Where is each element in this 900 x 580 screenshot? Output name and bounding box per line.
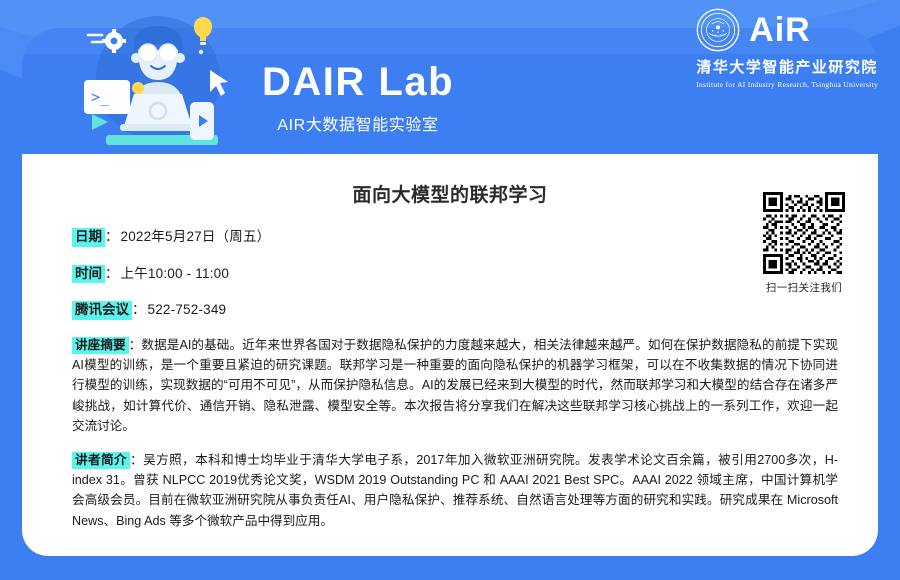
- lab-subtitle: AIR大数据智能实验室: [262, 111, 454, 135]
- time-separator: ：: [105, 262, 119, 282]
- institute-english-name: Institute for AI Industry Research, Tsin…: [696, 80, 878, 89]
- time-label: 时间: [72, 265, 105, 284]
- body-card: 面向大模型的联邦学习: [22, 154, 878, 556]
- abstract-paragraph: 讲座摘要：数据是AI的基础。近年来世界各国对于数据隐私保护的力度越来越大，相关法…: [48, 335, 852, 437]
- qr-code-icon: [763, 192, 845, 274]
- meta-row-meeting: 腾讯会议 ： 522-752-349: [72, 298, 852, 320]
- bio-label: 讲者简介: [72, 452, 130, 469]
- bio-paragraph: 讲者简介：吴方照，本科和博士均毕业于清华大学电子系，2017年加入微软亚洲研究院…: [48, 450, 852, 532]
- qr-block: 扫一扫关注我们: [756, 192, 852, 295]
- page-title: 面向大模型的联邦学习: [48, 180, 852, 207]
- date-separator: ：: [105, 225, 119, 245]
- meeting-separator: ：: [132, 298, 146, 318]
- date-value: 2022年5月27日（周五）: [121, 225, 271, 245]
- abstract-text: 数据是AI的基础。近年来世界各国对于数据隐私保护的力度越来越大，相关法律越来越严…: [72, 338, 838, 434]
- institute-chinese-name: 清华大学智能产业研究院: [696, 56, 878, 77]
- seminar-poster: AiR 清华大学智能产业研究院 Institute for AI Industr…: [0, 0, 900, 580]
- air-wordmark: AiR: [749, 13, 811, 47]
- lab-name: DAIR Lab: [262, 62, 454, 102]
- abstract-label: 讲座摘要: [72, 337, 129, 354]
- bio-separator: ：: [130, 453, 143, 467]
- air-logo-block: AiR 清华大学智能产业研究院 Institute for AI Industr…: [696, 8, 878, 89]
- tsinghua-seal-icon: [696, 8, 740, 52]
- date-label: 日期: [72, 228, 105, 247]
- meta-row-date: 日期 ： 2022年5月27日（周五）: [72, 225, 852, 247]
- meeting-label: 腾讯会议: [72, 301, 132, 320]
- qr-caption: 扫一扫关注我们: [756, 280, 852, 295]
- meta-row-time: 时间 ： 上午10:00 - 11:00: [72, 262, 852, 284]
- svg-text:>_: >_: [91, 88, 110, 106]
- meeting-id-value: 522-752-349: [148, 302, 227, 317]
- bio-text: 吴方照，本科和博士均毕业于清华大学电子系，2017年加入微软亚洲研究院。发表学术…: [72, 453, 838, 528]
- meta-list: 日期 ： 2022年5月27日（周五） 时间 ： 上午10:00 - 11:00…: [48, 225, 852, 320]
- lab-titles: DAIR Lab AIR大数据智能实验室: [262, 62, 454, 135]
- developer-at-laptop-illustration: >_: [58, 8, 258, 158]
- time-value: 上午10:00 - 11:00: [121, 262, 230, 282]
- abstract-separator: ：: [129, 338, 142, 352]
